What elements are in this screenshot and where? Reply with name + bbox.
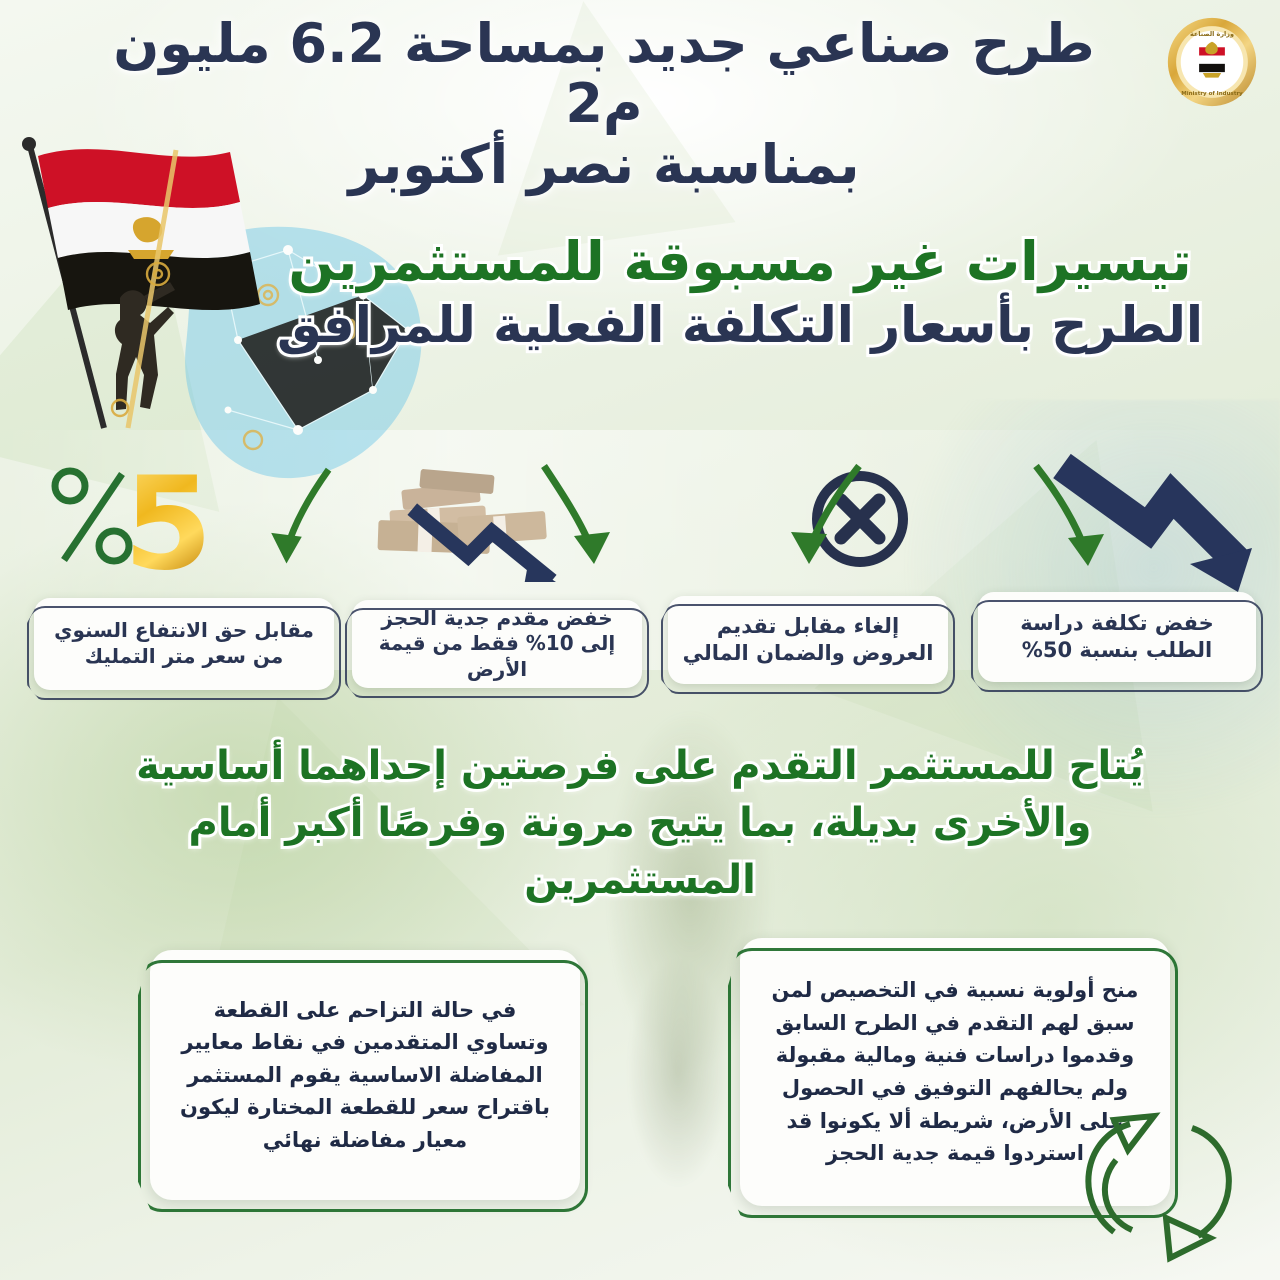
callout-text: خفض تكلفة دراسة الطلب بنسبة 50%: [990, 610, 1244, 664]
curved-arrow-icon: [252, 464, 342, 574]
svg-text:وزارة الصناعة: وزارة الصناعة: [1190, 30, 1234, 38]
svg-text:Ministry of Industry: Ministry of Industry: [1181, 91, 1243, 97]
mid-statement: يُتاح للمستثمر التقدم على فرصتين إحداهما…: [70, 738, 1210, 908]
bottom-box-text: في حالة التزاحم على القطعة وتساوي المتقد…: [176, 994, 554, 1157]
callout-study-cost-cut[interactable]: خفض تكلفة دراسة الطلب بنسبة 50%: [978, 592, 1256, 682]
ministry-of-industry-seal: وزارة الصناعة Ministry of Industry: [1166, 16, 1258, 108]
callout-row: مقابل حق الانتفاع السنوي من سعر متر التم…: [0, 592, 1280, 697]
five-percent-icon: 5: [40, 450, 240, 580]
curved-arrow-icon: [528, 460, 628, 575]
subheadline-green: تيسيرات غير مسبوقة للمستثمرين: [230, 232, 1250, 292]
cycle-arrows-icon: [1070, 1098, 1250, 1263]
curved-arrow-icon: [1022, 460, 1122, 578]
callout-text: خفض مقدم جدية الحجز إلى 10% فقط من قيمة …: [364, 606, 630, 683]
subheadline-navy: الطرح بأسعار التكلفة الفعلية للمرافق: [230, 296, 1250, 354]
bottom-box-tie-break-rule[interactable]: في حالة التزاحم على القطعة وتساوي المتقد…: [150, 950, 580, 1200]
callout-offer-fee-cancel[interactable]: إلغاء مقابل تقديم العروض والضمان المالي: [668, 596, 948, 684]
mid-statement-line-2: والأخرى بديلة، بما يتيح مرونة وفرصًا أكب…: [189, 800, 1092, 903]
callout-text: إلغاء مقابل تقديم العروض والضمان المالي: [680, 613, 936, 667]
infographic-poster: وزارة الصناعة Ministry of Industry طرح ص…: [0, 0, 1280, 1280]
curved-arrow-icon: [775, 460, 875, 575]
svg-text:5: 5: [123, 450, 212, 580]
callout-benefit-right-fee[interactable]: مقابل حق الانتفاع السنوي من سعر متر التم…: [34, 598, 334, 690]
icon-row: 5: [0, 442, 1280, 612]
headline-line-1: طرح صناعي جديد بمساحة 6.2 مليون م2: [113, 12, 1094, 135]
callout-reservation-deposit[interactable]: خفض مقدم جدية الحجز إلى 10% فقط من قيمة …: [352, 600, 642, 688]
subheadline: تيسيرات غير مسبوقة للمستثمرين الطرح بأسع…: [230, 232, 1250, 354]
mid-statement-line-1: يُتاح للمستثمر التقدم على فرصتين إحداهما…: [136, 743, 1144, 789]
callout-text: مقابل حق الانتفاع السنوي من سعر متر التم…: [46, 618, 322, 669]
